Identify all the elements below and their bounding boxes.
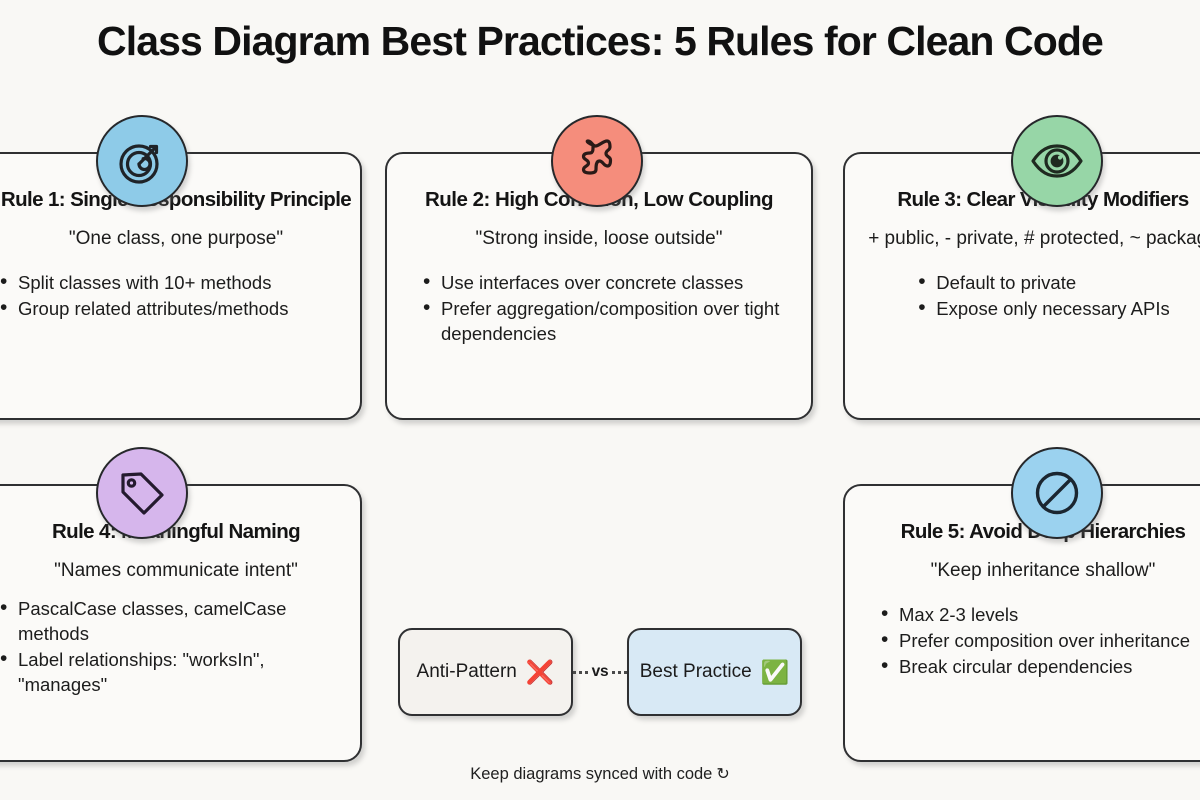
rule-card-2-bullets: Use interfaces over concrete classes Pre…	[421, 270, 797, 346]
puzzle-piece-icon	[551, 115, 643, 207]
connector-dash-right	[612, 671, 627, 674]
sync-icon: ↻	[716, 766, 729, 783]
rule-card-3: Rule 3: Clear Visibility Modifiers + pub…	[843, 152, 1200, 420]
vs-connector: vs	[573, 662, 627, 682]
best-practice-pill[interactable]: Best Practice ✅	[627, 628, 802, 716]
tag-icon	[96, 447, 188, 539]
list-item: Max 2-3 levels	[879, 602, 1200, 627]
connector-dash-left	[573, 671, 588, 674]
rule-card-3-quote: + public, - private, # protected, ~ pack…	[859, 228, 1200, 250]
comparison-row: Anti-Pattern ❌ vs Best Practice ✅	[398, 627, 802, 717]
page-title: Class Diagram Best Practices: 5 Rules fo…	[0, 18, 1200, 65]
check-mark-icon: ✅	[761, 661, 790, 684]
list-item: Break circular dependencies	[879, 654, 1200, 679]
list-item: Label relationships: "worksIn", "manages…	[0, 647, 354, 697]
rule-card-4: Rule 4: Meaningful Naming "Names communi…	[0, 484, 362, 762]
rule-card-2-quote: "Strong inside, loose outside"	[401, 228, 797, 250]
puzzle-piece-icon-glyph	[570, 134, 624, 188]
vs-label: vs	[588, 663, 613, 681]
tag-icon-glyph	[115, 466, 169, 520]
footer-text: Keep diagrams synced with code	[470, 765, 712, 783]
target-icon-glyph	[114, 133, 170, 189]
rule-card-5-quote: "Keep inheritance shallow"	[859, 560, 1200, 582]
list-item: Split classes with 10+ methods	[0, 270, 354, 295]
target-icon	[96, 115, 188, 207]
list-item: Group related attributes/methods	[0, 296, 354, 321]
rule-card-1-bullets: Split classes with 10+ methods Group rel…	[0, 270, 354, 321]
rule-card-3-bullets: Default to private Expose only necessary…	[916, 270, 1169, 322]
rule-card-1-quote: "One class, one purpose"	[0, 228, 354, 250]
cross-mark-icon: ❌	[526, 661, 555, 684]
list-item: Expose only necessary APIs	[916, 296, 1169, 321]
footer-note: Keep diagrams synced with code↻	[0, 764, 1200, 784]
rule-card-5-bullets: Max 2-3 levels Prefer composition over i…	[879, 602, 1200, 679]
rule-card-4-bullets: PascalCase classes, camelCase methods La…	[0, 596, 354, 697]
rule-card-4-title: Rule 4: Meaningful Naming	[0, 520, 354, 544]
rule-card-5: Rule 5: Avoid Deep Hierarchies "Keep inh…	[843, 484, 1200, 762]
list-item: PascalCase classes, camelCase methods	[0, 596, 354, 646]
list-item: Default to private	[916, 270, 1169, 295]
anti-pattern-label: Anti-Pattern	[417, 661, 517, 683]
anti-pattern-pill[interactable]: Anti-Pattern ❌	[398, 628, 573, 716]
rule-card-4-quote: "Names communicate intent"	[0, 560, 354, 582]
rule-card-1: Rule 1: Single Responsibility Principle …	[0, 152, 362, 420]
rule-card-1-title: Rule 1: Single Responsibility Principle	[0, 188, 354, 212]
list-item: Use interfaces over concrete classes	[421, 270, 797, 295]
eye-icon	[1011, 115, 1103, 207]
no-entry-icon	[1011, 447, 1103, 539]
eye-icon-glyph	[1029, 133, 1085, 189]
best-practice-label: Best Practice	[640, 661, 752, 683]
list-item: Prefer aggregation/composition over tigh…	[421, 296, 797, 346]
no-entry-icon-glyph	[1029, 465, 1085, 521]
list-item: Prefer composition over inheritance	[879, 628, 1200, 653]
